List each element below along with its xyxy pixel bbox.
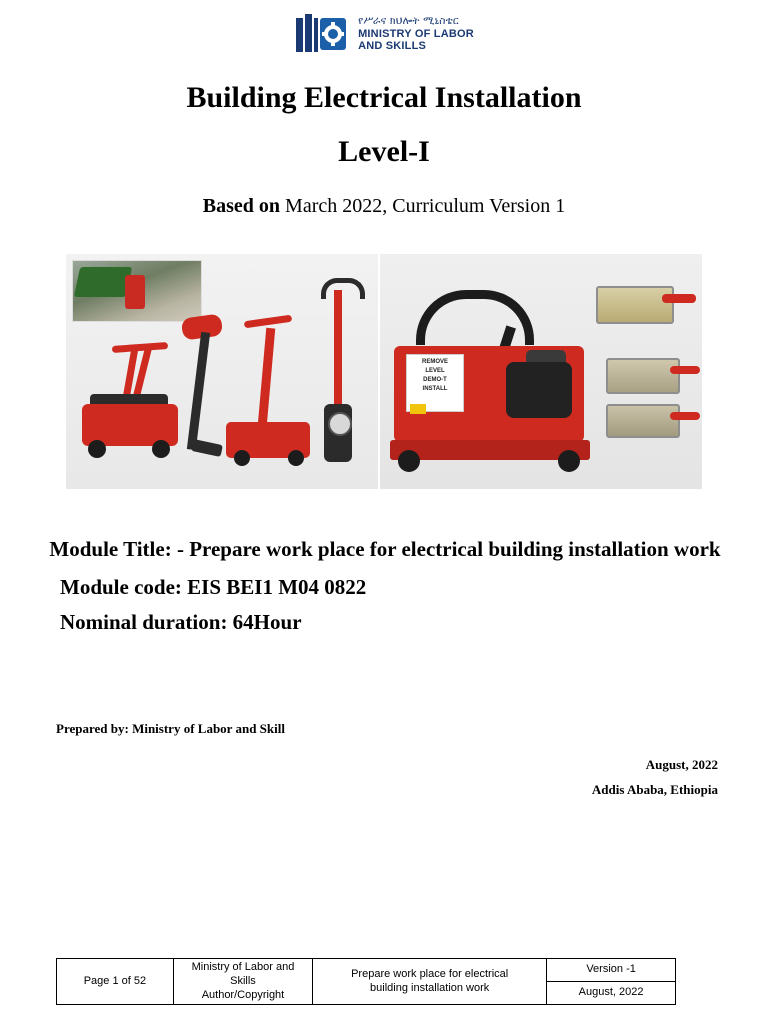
label-line-2: LEVEL (410, 367, 460, 376)
floor-machine-wheel-left (398, 450, 420, 472)
scraper-wheel-right (288, 450, 304, 466)
footer-version-date: August, 2022 (547, 982, 676, 1005)
blade-assembly-bottom (606, 404, 680, 438)
document-title: Building Electrical Installation (0, 78, 768, 119)
floor-machine-wheel-right (558, 450, 580, 472)
machine-wheel-right (152, 440, 170, 458)
floor-machine-handle (416, 290, 534, 345)
pole-rod (334, 290, 342, 410)
module-duration: Nominal duration: 64Hour (48, 610, 722, 635)
ministry-logo-icon (294, 12, 350, 56)
logo-text-block: የሥራና ክህሎት ሚኒስቴር MINISTRY OF LABOR AND SK… (358, 16, 474, 52)
blade-handle-middle (670, 366, 700, 374)
label-line-3: DEMO-T (410, 376, 460, 385)
publication-date: August, 2022 (0, 753, 718, 778)
module-title-value: Prepare work place for electrical buildi… (189, 537, 720, 561)
logo-header: የሥራና ክህሎት ሚኒስቴር MINISTRY OF LABOR AND SK… (0, 0, 768, 56)
scraper-column (258, 327, 276, 425)
inset-green-shape (74, 267, 132, 297)
label-line-1: REMOVE (410, 358, 460, 367)
publication-info: August, 2022 Addis Ababa, Ethiopia (0, 753, 768, 802)
footer-author-line2: Skills (177, 975, 309, 989)
scraper-wheel-left (234, 450, 250, 466)
pole-hook (321, 278, 365, 299)
curriculum-basis-prefix: Based on (203, 195, 280, 217)
footer-author-line3: Author/Copyright (177, 989, 309, 1003)
cover-photo-left-pane (66, 254, 378, 489)
blade-handle-top (662, 294, 696, 303)
page-footer-table: Page 1 of 52 Ministry of Labor and Skill… (56, 958, 676, 1005)
blade-handle-bottom (670, 412, 700, 420)
stripper-foot (191, 439, 223, 457)
footer-row: Page 1 of 52 Ministry of Labor and Skill… (57, 959, 676, 982)
module-title: Module Title: - Prepare work place for e… (48, 533, 722, 566)
blade-assembly-top (596, 286, 674, 324)
logo-english-line2: AND SKILLS (358, 41, 474, 53)
inset-red-shape (125, 275, 145, 309)
inset-ground-photo (72, 260, 202, 322)
machine-wheel-left (88, 440, 106, 458)
footer-page-number: Page 1 of 52 (57, 959, 174, 1005)
blade-assembly-middle (606, 358, 680, 394)
publication-place: Addis Ababa, Ethiopia (0, 778, 718, 803)
scraper-grip-bar (244, 314, 293, 328)
footer-module-name: Prepare work place for electrical buildi… (313, 959, 547, 1005)
module-info-block: Module Title: - Prepare work place for e… (0, 533, 768, 636)
floor-machine-label-text: REMOVE LEVEL DEMO-T INSTALL (410, 358, 460, 394)
document-page: የሥራና ክህሎት ሚኒስቴር MINISTRY OF LABOR AND SK… (0, 0, 768, 1024)
footer-author: Ministry of Labor and Skills Author/Copy… (173, 959, 312, 1005)
floor-machine-motor (506, 362, 572, 418)
stripper-stem (187, 331, 210, 449)
footer-author-line1: Ministry of Labor and (177, 961, 309, 975)
logo-english-line1: MINISTRY OF LABOR (358, 29, 474, 41)
curriculum-basis-rest: March 2022, Curriculum Version 1 (285, 195, 565, 217)
footer-module-line2: building installation work (316, 982, 543, 996)
document-level: Level-I (0, 135, 768, 169)
curriculum-basis: Based on March 2022, Curriculum Version … (0, 195, 768, 218)
machine-grip-bar (112, 342, 168, 353)
label-line-4: INSTALL (410, 385, 460, 394)
footer-version: Version -1 (547, 959, 676, 982)
cover-photo-right-pane: REMOVE LEVEL DEMO-T INSTALL (380, 254, 702, 489)
cover-photo: REMOVE LEVEL DEMO-T INSTALL (66, 254, 702, 489)
prepared-by: Prepared by: Ministry of Labor and Skill (0, 721, 768, 737)
floor-machine-yellow-sticker (410, 404, 426, 414)
footer-module-line1: Prepare work place for electrical (316, 968, 543, 982)
logo-amharic-text: የሥራና ክህሎት ሚኒስቴር (358, 16, 474, 27)
module-title-label: Module Title: - (49, 537, 184, 561)
module-code: Module code: EIS BEI1 M04 0822 (48, 575, 722, 600)
pole-gauge (328, 412, 352, 436)
